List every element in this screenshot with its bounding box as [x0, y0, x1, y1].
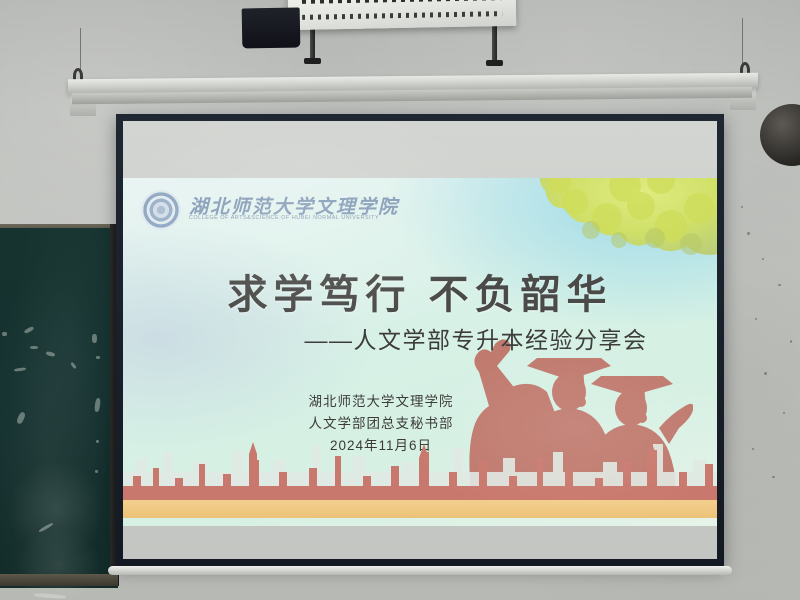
wall-speck	[764, 372, 767, 375]
wall-speck	[755, 318, 757, 320]
university-seal-icon	[141, 190, 181, 230]
projector-mount-foot	[304, 58, 321, 64]
slide-title: 求学笃行 不负韶华	[123, 262, 717, 320]
presentation-slide: 湖北师范大学文理学院 COLLEGE OF ARTS&SCIENCE OF HU…	[123, 178, 717, 526]
ceiling-projector	[288, 0, 517, 30]
classroom-scene: 湖北师范大学文理学院 COLLEGE OF ARTS&SCIENCE OF HU…	[0, 0, 800, 600]
gold-accent-band	[123, 500, 717, 518]
logo-english-name: COLLEGE OF ARTS&SCIENCE OF HUBEI NORMAL …	[189, 215, 379, 221]
wall-speck	[778, 284, 781, 286]
projector-vent	[302, 11, 502, 20]
wall-speck	[752, 448, 754, 450]
slide-subtitle: ——人文学部专升本经验分享会	[123, 321, 717, 355]
screen-surface: 湖北师范大学文理学院 COLLEGE OF ARTS&SCIENCE OF HU…	[123, 121, 717, 559]
screen-weight-bar[interactable]	[108, 566, 732, 575]
projector-lens	[242, 7, 301, 48]
wall-speck	[741, 206, 743, 208]
wall-speck	[772, 476, 775, 478]
wall-speck	[790, 340, 792, 343]
city-skyline-graphic	[123, 442, 717, 500]
chalkboard	[0, 228, 118, 588]
wall-speck	[783, 412, 785, 414]
projector-mount-rod	[492, 20, 497, 64]
org-line-1: 湖北师范大学文理学院	[123, 391, 639, 413]
chalk-tray	[0, 574, 118, 586]
projector-vent	[302, 0, 502, 4]
projection-screen[interactable]: 湖北师范大学文理学院 COLLEGE OF ARTS&SCIENCE OF HU…	[116, 114, 724, 566]
wall-speck	[762, 258, 764, 260]
wall-speck	[747, 232, 750, 235]
org-line-2: 人文学部团总支秘书部	[123, 413, 639, 435]
projector-mount-foot	[486, 60, 503, 66]
